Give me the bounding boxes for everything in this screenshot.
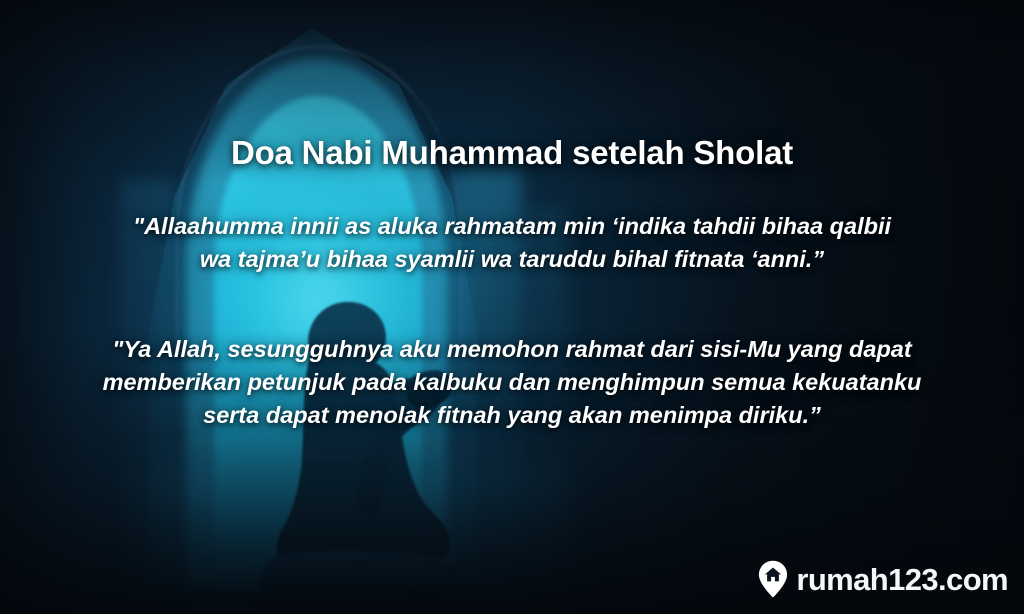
map-pin-house-icon (758, 560, 788, 598)
quote-translation: "Ya Allah, sesungguhnya aku memohon rahm… (0, 333, 1024, 432)
brand-logo[interactable]: rumah123.com (758, 560, 1008, 598)
brand-logo-text: rumah123.com (796, 564, 1008, 595)
poster-canvas: Doa Nabi Muhammad setelah Sholat "Allaah… (0, 0, 1024, 614)
quote-transliteration: "Allaahumma innii as aluka rahmatam min … (0, 210, 1024, 276)
text-overlay: Doa Nabi Muhammad setelah Sholat "Allaah… (0, 0, 1024, 614)
page-title: Doa Nabi Muhammad setelah Sholat (0, 134, 1024, 172)
